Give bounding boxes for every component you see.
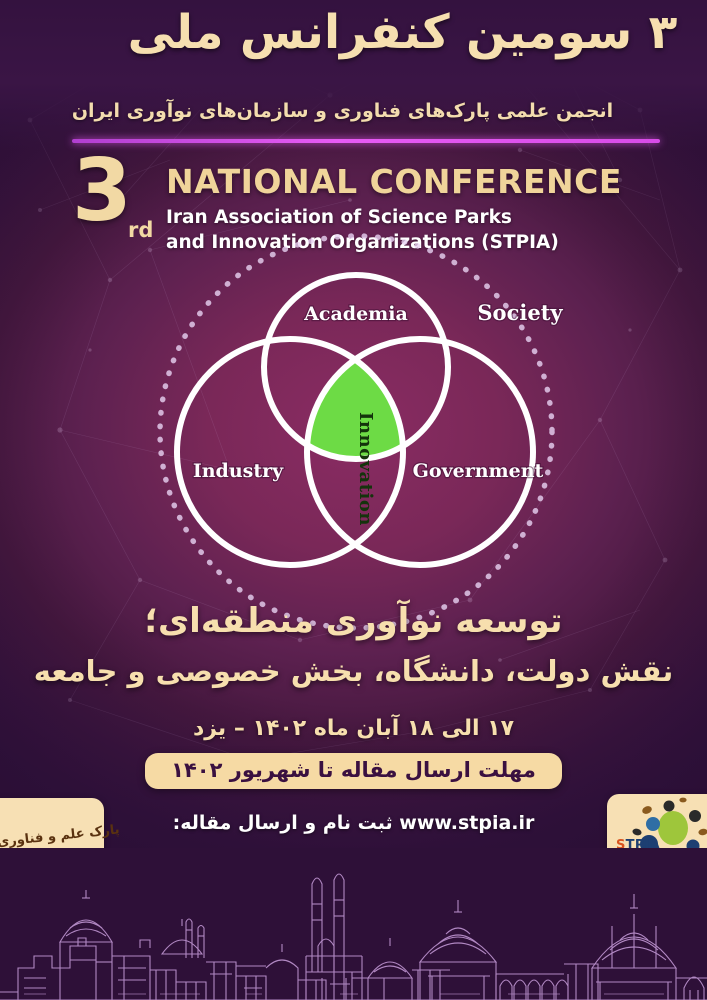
english-title-block: 3 rd NATIONAL CONFERENCE Iran Associatio… [0, 152, 707, 262]
theme-line-2: نقش دولت، دانشگاه، بخش خصوصی و جامعه [0, 653, 707, 691]
persian-main-title: ۳ سومین کنفرانس ملی [120, 6, 685, 60]
date-and-location: ۱۷ الی ۱۸ آبان ماه ۱۴۰۲ – یزد [0, 716, 707, 741]
poster-header: ۳ سومین کنفرانس ملی انجمن علمی پارک‌های … [0, 0, 707, 150]
theme-line-1: توسعه نوآوری منطقه‌ای؛ [0, 600, 707, 643]
submission-deadline-badge: مهلت ارسال مقاله تا شهریور ۱۴۰۲ [145, 753, 562, 789]
english-conference-title: NATIONAL CONFERENCE [166, 162, 622, 201]
venn-label-industry: Industry [193, 460, 284, 482]
website-url[interactable]: www.stpia.ir [399, 812, 534, 834]
deadline-badge-wrapper: مهلت ارسال مقاله تا شهریور ۱۴۰۲ [0, 753, 707, 789]
ordinal-number: 3 [72, 148, 132, 234]
venn-diagram: Academia Industry Government Society Inn… [88, 262, 628, 592]
persian-subtitle: انجمن علمی پارک‌های فناوری و سازمان‌های … [0, 100, 685, 122]
venn-label-government: Government [413, 460, 544, 482]
ordinal-suffix: rd [128, 218, 153, 242]
registration-prefix: ثبت نام و ارسال مقاله: [173, 812, 393, 834]
venn-label-innovation: Innovation [355, 412, 376, 526]
venn-label-academia: Academia [303, 303, 408, 325]
magenta-divider [72, 139, 660, 143]
english-subtitle-line1: Iran Association of Science Parks [166, 206, 559, 231]
conference-theme: توسعه نوآوری منطقه‌ای؛ نقش دولت، دانشگاه… [0, 600, 707, 690]
conference-poster: ۳ سومین کنفرانس ملی انجمن علمی پارک‌های … [0, 0, 707, 1000]
venn-label-society: Society [477, 300, 563, 325]
yazd-skyline [0, 850, 707, 1000]
